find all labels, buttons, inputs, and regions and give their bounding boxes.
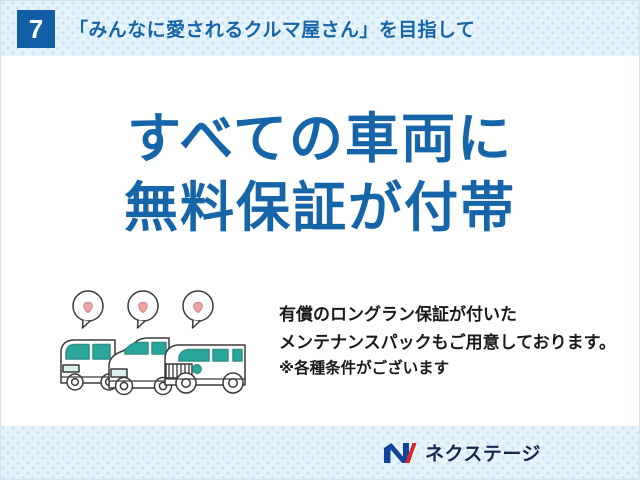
cars-illustration <box>53 289 263 399</box>
footer: ネクステージ <box>1 426 639 479</box>
header: 7 「みんなに愛されるクルマ屋さん」を目指して <box>1 1 639 56</box>
headline-line-2: 無料保証が付帯 <box>1 174 639 243</box>
body-copy: 有償のロングラン保証が付いた メンテナンスパックもご用意しております。 ※各種条… <box>279 301 639 381</box>
headline: すべての車両に 無料保証が付帯 <box>1 105 639 243</box>
car-suv <box>165 345 245 393</box>
header-title: 「みんなに愛されるクルマ屋さん」を目指して <box>69 15 475 42</box>
promo-banner: 7 「みんなに愛されるクルマ屋さん」を目指して すべての車両に 無料保証が付帯 <box>0 0 640 480</box>
cars-illustration-svg <box>53 289 263 399</box>
body-line-1: 有償のロングラン保証が付いた <box>279 301 639 329</box>
headline-line-1: すべての車両に <box>1 105 639 174</box>
heart-bubble-1 <box>73 291 103 328</box>
step-number-badge: 7 <box>17 10 55 48</box>
nexstage-logo-icon <box>383 441 417 465</box>
content-row: 有償のロングラン保証が付いた メンテナンスパックもご用意しております。 ※各種条… <box>1 289 639 404</box>
car-wagon <box>109 338 172 395</box>
brand-name: ネクステージ <box>425 439 541 466</box>
heart-bubble-2 <box>128 291 158 328</box>
heart-bubble-3 <box>183 291 213 328</box>
body-line-2: メンテナンスパックもご用意しております。 <box>279 329 639 357</box>
body-note: ※各種条件がございます <box>279 356 639 381</box>
